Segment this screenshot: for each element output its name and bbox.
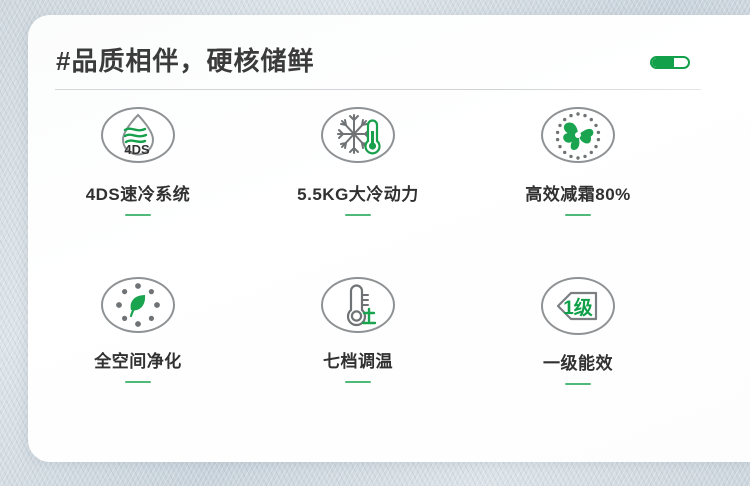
icon-text-4ds: 4DS: [124, 142, 150, 157]
card-header: #品质相伴，硬核储鲜: [28, 15, 750, 91]
icon-text-energy-grade: 1级: [563, 296, 593, 319]
label-underline: [345, 381, 371, 383]
label-underline: [565, 214, 591, 216]
feature-label: 高效减霜80%: [525, 180, 631, 205]
feature-item-energy-grade[interactable]: 1级 一级能效: [468, 277, 688, 363]
label-underline: [125, 381, 151, 383]
icon-circle: 4DS: [101, 107, 175, 163]
fan-defrost-icon: [552, 109, 604, 161]
feature-item-temp-levels[interactable]: 七档调温: [248, 277, 468, 363]
water-drop-airflow-4ds-icon: 4DS: [112, 109, 164, 161]
feature-item-cooling-power[interactable]: 5.5KG大冷动力: [248, 107, 468, 193]
energy-grade-label-icon: 1级: [551, 279, 605, 333]
progress-pill-fill: [652, 58, 674, 67]
label-underline: [125, 214, 151, 216]
page-root: #品质相伴，硬核储鲜 4DS 4DS速冷系统: [0, 0, 750, 486]
feature-label: 七档调温: [323, 347, 393, 372]
feature-item-purification[interactable]: 全空间净化: [28, 277, 248, 363]
leaf-glyph: [131, 295, 146, 316]
snowflake-thermometer-icon: [332, 109, 384, 161]
thermometer-glyph: [366, 121, 380, 154]
icon-circle: [321, 277, 395, 333]
feature-item-defrost[interactable]: 高效减霜80%: [468, 107, 688, 193]
icon-circle: 1级: [541, 277, 615, 335]
feature-label: 全空间净化: [94, 347, 182, 372]
feature-label: 4DS速冷系统: [86, 180, 191, 205]
leaf-purification-icon: [112, 279, 164, 331]
progress-pill-indicator[interactable]: [650, 56, 690, 69]
icon-circle: [101, 277, 175, 333]
label-underline: [565, 383, 591, 385]
label-underline: [345, 214, 371, 216]
page-title: #品质相伴，硬核储鲜: [56, 41, 314, 78]
feature-label: 5.5KG大冷动力: [297, 180, 419, 205]
feature-grid: 4DS 4DS速冷系统: [28, 107, 688, 363]
feature-item-4ds[interactable]: 4DS 4DS速冷系统: [28, 107, 248, 193]
icon-circle: [321, 107, 395, 163]
header-divider: [55, 89, 701, 90]
icon-circle: [541, 107, 615, 163]
thermometer-adjust-icon: [332, 279, 384, 331]
feature-card: #品质相伴，硬核储鲜 4DS 4DS速冷系统: [28, 15, 750, 462]
feature-label: 一级能效: [543, 349, 613, 374]
